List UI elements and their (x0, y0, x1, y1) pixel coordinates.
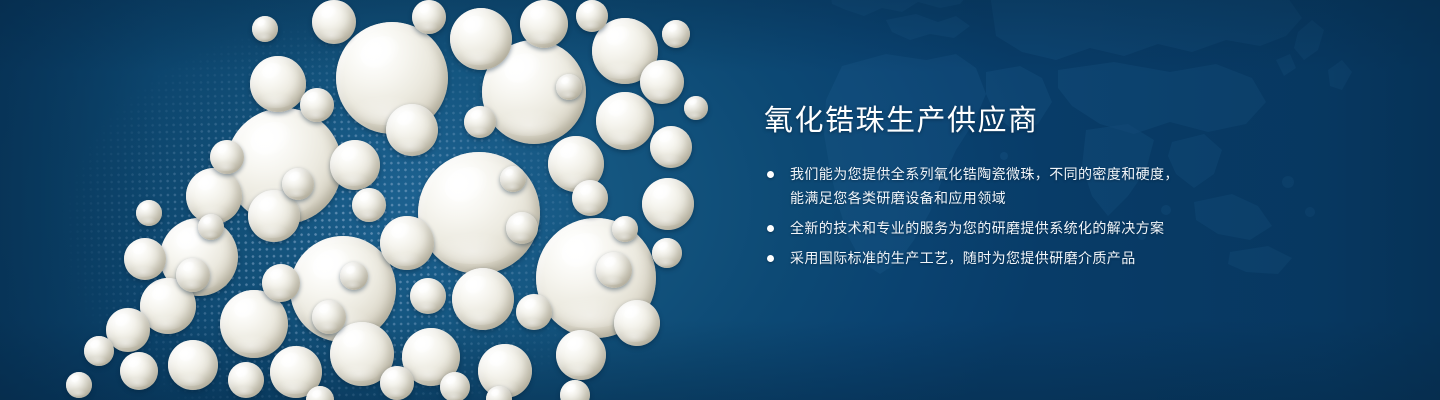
bullet-dot-icon (767, 255, 774, 262)
feature-text-line: 全新的技术和专业的服务为您的研磨提供系统化的解决方案 (790, 216, 1324, 240)
banner-feature-list: 我们能为您提供全系列氧化锆陶瓷微珠，不同的密度和硬度， 能满足您各类研磨设备和应… (764, 162, 1324, 270)
feature-text-line: 采用国际标准的生产工艺，随时为您提供研磨介质产品 (790, 246, 1324, 270)
feature-item: 采用国际标准的生产工艺，随时为您提供研磨介质产品 (764, 246, 1324, 270)
bullet-dot-icon (767, 225, 774, 232)
bullet-dot-icon (767, 171, 774, 178)
feature-item: 全新的技术和专业的服务为您的研磨提供系统化的解决方案 (764, 216, 1324, 240)
feature-text-line: 我们能为您提供全系列氧化锆陶瓷微珠，不同的密度和硬度， (790, 162, 1324, 186)
banner-content: 氧化锆珠生产供应商 我们能为您提供全系列氧化锆陶瓷微珠，不同的密度和硬度， 能满… (764, 104, 1324, 270)
hero-banner: 氧化锆珠生产供应商 我们能为您提供全系列氧化锆陶瓷微珠，不同的密度和硬度， 能满… (0, 0, 1440, 400)
feature-text-line: 能满足您各类研磨设备和应用领域 (790, 186, 1324, 210)
feature-item: 我们能为您提供全系列氧化锆陶瓷微珠，不同的密度和硬度， 能满足您各类研磨设备和应… (764, 162, 1324, 210)
banner-headline: 氧化锆珠生产供应商 (764, 104, 1324, 138)
